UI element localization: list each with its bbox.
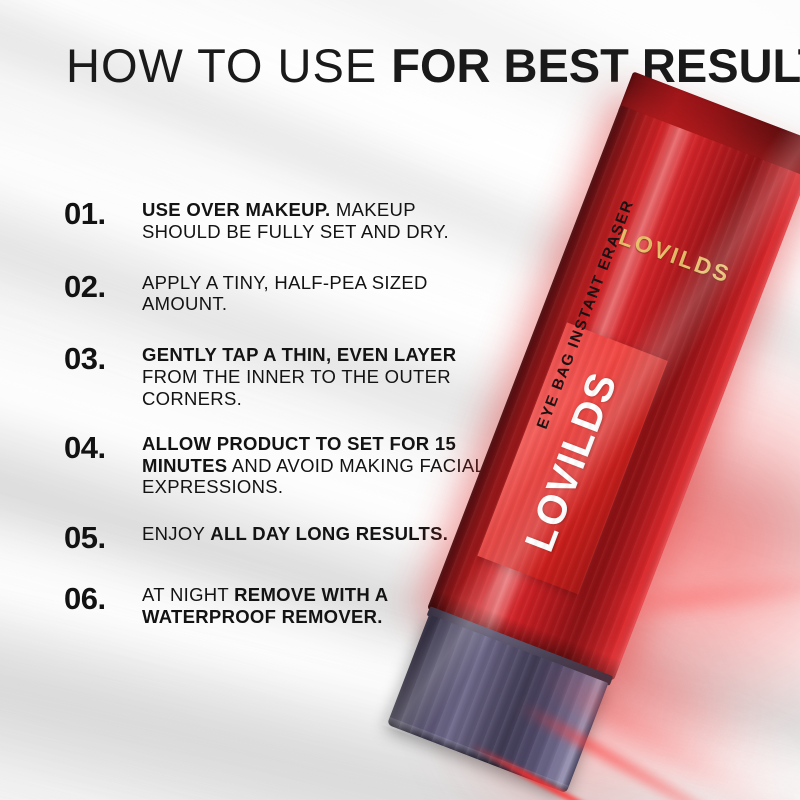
step-number: 03.: [64, 341, 142, 376]
page-title: HOW TO USE FOR BEST RESULTS: [66, 42, 800, 89]
list-item: 05. ENJOY ALL DAY LONG RESULTS.: [64, 520, 494, 555]
step-text: GENTLY TAP A THIN, EVEN LAYER FROM THE I…: [142, 341, 494, 409]
list-item: 01. USE OVER MAKEUP. MAKEUP SHOULD BE FU…: [64, 196, 494, 243]
step-text: APPLY A TINY, HALF-PEA SIZED AMOUNT.: [142, 269, 494, 316]
step-number: 01.: [64, 196, 142, 231]
step-text: ENJOY ALL DAY LONG RESULTS.: [142, 520, 494, 545]
title-bold-part: FOR BEST RESULTS: [391, 39, 800, 92]
step-text: AT NIGHT REMOVE WITH A WATERPROOF REMOVE…: [142, 581, 494, 628]
promo-graphic: HOW TO USE FOR BEST RESULTS 01. USE OVER…: [0, 0, 800, 800]
list-item: 03. GENTLY TAP A THIN, EVEN LAYER FROM T…: [64, 341, 494, 409]
title-light-part: HOW TO USE: [66, 39, 391, 92]
step-number: 05.: [64, 520, 142, 555]
step-number: 02.: [64, 269, 142, 304]
list-item: 02. APPLY A TINY, HALF-PEA SIZED AMOUNT.: [64, 269, 494, 316]
step-text: ALLOW PRODUCT TO SET FOR 15 MINUTES AND …: [142, 430, 494, 498]
list-item: 06. AT NIGHT REMOVE WITH A WATERPROOF RE…: [64, 581, 494, 628]
list-item: 04. ALLOW PRODUCT TO SET FOR 15 MINUTES …: [64, 430, 494, 498]
instruction-list: 01. USE OVER MAKEUP. MAKEUP SHOULD BE FU…: [64, 196, 494, 627]
step-number: 04.: [64, 430, 142, 465]
step-number: 06.: [64, 581, 142, 616]
step-text: USE OVER MAKEUP. MAKEUP SHOULD BE FULLY …: [142, 196, 494, 243]
